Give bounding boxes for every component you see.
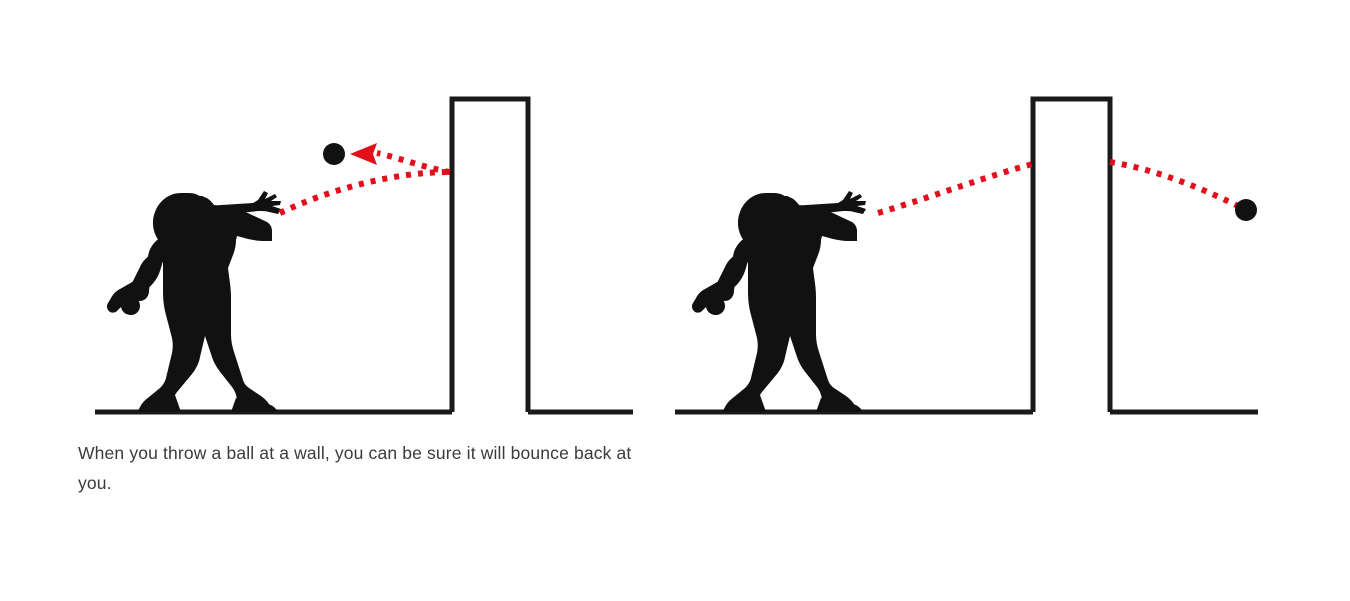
- ball-trajectory-tunnelled-dashed: [1110, 162, 1242, 208]
- classical-bounce-figure: [0, 0, 670, 430]
- barrier-wall: [452, 99, 528, 412]
- panel-quantum-tunnelling: You would be extremely surprised if the …: [670, 0, 1350, 601]
- illustration-page: When you throw a ball at a wall, you can…: [0, 0, 1350, 601]
- ball: [1235, 199, 1257, 221]
- ball-trajectory-outgoing-dashed: [280, 172, 450, 213]
- panel-classical-bounce: When you throw a ball at a wall, you can…: [0, 0, 670, 601]
- caption-classical-bounce: When you throw a ball at a wall, you can…: [78, 438, 650, 498]
- boy-throwing-silhouette: [107, 191, 281, 412]
- ball-trajectory-incoming-dashed: [878, 164, 1033, 213]
- boy-throwing-silhouette: [692, 191, 866, 412]
- ball-trajectory-rebound-dashed: [377, 153, 450, 172]
- quantum-tunnelling-figure: [670, 0, 1350, 430]
- barrier-wall: [1033, 99, 1110, 412]
- rebound-arrowhead: [350, 143, 377, 165]
- ball: [323, 143, 345, 165]
